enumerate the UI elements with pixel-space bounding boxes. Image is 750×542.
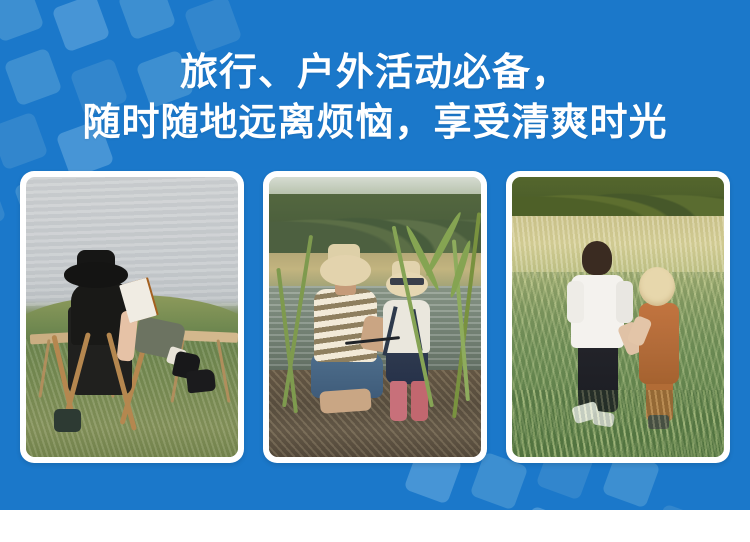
- foreground-grass: [512, 390, 724, 457]
- headline-line-1: 旅行、户外活动必备，: [0, 48, 750, 98]
- father-straw-hat-brim: [320, 255, 371, 286]
- boy-sleeve: [567, 281, 584, 323]
- bucket-hat-brim: [64, 262, 128, 287]
- photo-card-children-meadow[interactable]: [506, 171, 730, 463]
- photo-gallery: [20, 171, 730, 463]
- headline: 旅行、户外活动必备， 随时随地远离烦恼，享受清爽时光: [0, 48, 750, 148]
- headline-line-2: 随时随地远离烦恼，享受清爽时光: [0, 98, 750, 148]
- pattern-square: [52, 0, 111, 52]
- pattern-square: [184, 0, 243, 54]
- photo-card-father-son-fishing[interactable]: [263, 171, 487, 463]
- toddler-orange-romper: [639, 303, 679, 384]
- boy-head: [582, 241, 612, 275]
- bottom-white-strip: [0, 510, 750, 542]
- background-trees: [512, 177, 724, 222]
- pattern-square: [0, 176, 6, 235]
- camp-bag: [54, 409, 82, 431]
- boy-sleeve: [616, 281, 633, 323]
- toddler-curly-head: [639, 267, 675, 306]
- photo-card-man-reading-lakeside[interactable]: [20, 171, 244, 463]
- dry-grass-field: [512, 216, 724, 278]
- photo-father-son-fishing: [269, 177, 481, 457]
- photo-man-reading-lakeside: [26, 177, 238, 457]
- pattern-square: [118, 0, 177, 40]
- photo-children-meadow: [512, 177, 724, 457]
- father-leg: [319, 388, 371, 414]
- boy-rain-boot: [390, 381, 407, 420]
- person-boot: [186, 369, 216, 394]
- pattern-square: [0, 0, 44, 42]
- promo-banner: 旅行、户外活动必备， 随时随地远离烦恼，享受清爽时光: [0, 0, 750, 510]
